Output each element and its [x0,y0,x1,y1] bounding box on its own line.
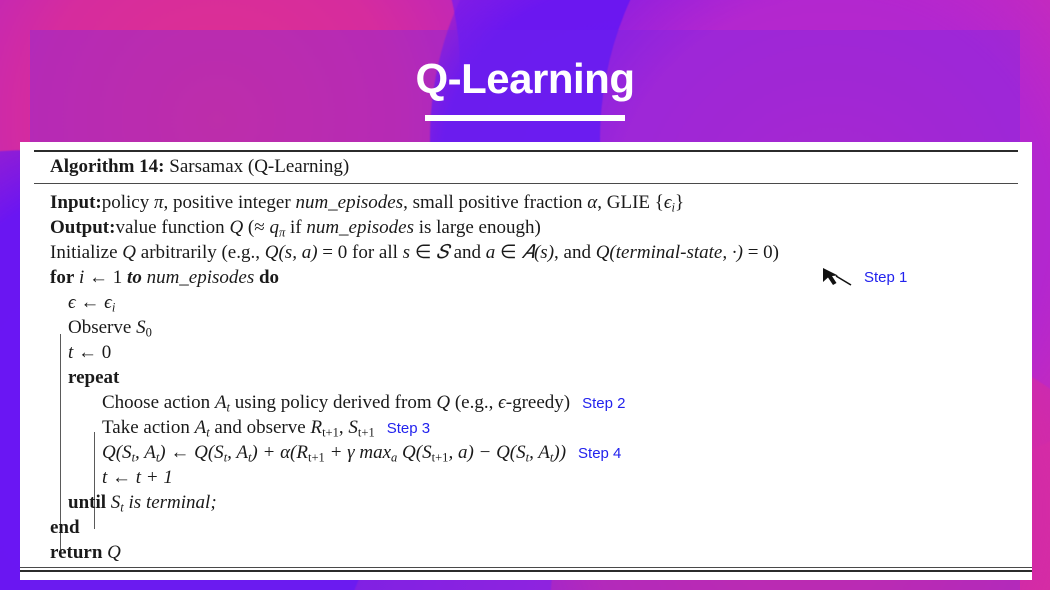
init-text-5: and [449,242,486,263]
annotation-step-4: Step 4 [566,445,621,462]
t-init-rest: ← 0 [73,342,111,363]
observe-text: Observe [68,317,136,338]
observe-symbol-S: S [136,317,146,338]
algorithm-content: Algorithm 14: Sarsamax (Q-Learning) Inpu… [20,142,1032,565]
output-label: Output: [50,217,115,238]
return-symbol-Q: Q [107,542,121,563]
choose-symbol-A: A [215,392,227,413]
take-R-subscript: t+1 [322,426,339,440]
input-text-5: } [675,192,684,213]
line-choose-action: Choose action At using policy derived fr… [50,390,1018,415]
for-assign-arrow: ← 1 [84,267,127,288]
choose-text-1: Choose action [102,392,215,413]
output-text-2: (≈ [243,217,269,238]
algorithm-card: Algorithm 14: Sarsamax (Q-Learning) Inpu… [20,142,1032,580]
line-output: Output:value function Q (≈ qπ if num_epi… [50,215,1018,240]
line-t-init: t ← 0 [50,340,1018,365]
line-return: return Q [50,540,1018,565]
init-symbol-Q: Q [122,242,136,263]
line-repeat: repeat [50,365,1018,390]
choose-text-3: (e.g., [450,392,498,413]
choose-symbol-epsilon: ϵ [498,392,506,413]
take-symbol-S: S [348,417,358,438]
output-text-3: if [285,217,306,238]
keyword-end: end [50,517,80,538]
output-text-1: value function [115,217,229,238]
cursor-arrow-icon [820,266,854,288]
input-text-1: policy [102,192,154,213]
init-text-8: = 0) [743,242,779,263]
line-observe: Observe S0 [50,315,1018,340]
init-Q-s-a: Q(s, a) [265,242,318,263]
choose-text-4: -greedy) [506,392,570,413]
epsilon-lhs: ϵ [68,292,76,313]
observe-S-subscript: 0 [146,326,152,340]
keyword-return: return [50,542,102,563]
page-title: Q-Learning [415,58,634,100]
q-update-expression: Q(St, At) ← Q(St, At) + α(Rt+1 + γ maxa … [102,442,566,463]
init-action-space-A: 𝐴(s) [521,242,554,263]
var-num-episodes: num_episodes [295,192,403,213]
annotation-step-1-group: Step 1 [820,266,907,288]
until-symbol-S: S [111,492,121,513]
slide-canvas: Q-Learning Algorithm 14: Sarsamax (Q-Lea… [0,0,1050,590]
init-state-space-S: 𝑆 [436,242,449,263]
epsilon-rhs-subscript: i [112,301,115,315]
keyword-repeat: repeat [68,367,119,388]
until-text: is terminal; [124,492,217,513]
line-epsilon-assign: ϵ ← ϵi [50,290,1018,315]
choose-symbol-Q: Q [436,392,450,413]
symbol-alpha: α [587,192,597,213]
for-loop-bound: num_episodes [147,267,255,288]
take-symbol-A: A [195,417,207,438]
input-label: Input: [50,192,102,213]
choose-text-2: using policy derived from [230,392,436,413]
init-text-2: arbitrarily (e.g., [136,242,265,263]
epsilon-arrow: ← [76,292,105,313]
keyword-for: for [50,267,74,288]
line-until: until St is terminal; [50,490,1018,515]
take-symbol-R: R [310,417,322,438]
keyword-until: until [68,492,106,513]
keyword-do: do [259,267,279,288]
symbol-q: q [269,217,279,238]
slide-title-block: Q-Learning [0,58,1050,121]
take-text-1: Take action [102,417,195,438]
line-input: Input:policy π, positive integer num_epi… [50,190,1018,215]
take-S-subscript: t+1 [358,426,375,440]
line-initialize: Initialize Q arbitrarily (e.g., Q(s, a) … [50,240,1018,265]
init-text-3: = 0 for all [318,242,403,263]
line-t-increment: t ← t + 1 [50,465,1018,490]
title-underline-rule [425,115,625,121]
epsilon-rhs: ϵ [104,292,112,313]
output-text-4: is large enough) [414,217,541,238]
algorithm-number-label: Algorithm 14: [50,156,165,177]
input-text-4: , GLIE { [597,192,664,213]
algorithm-bottom-rule-thin [20,567,1032,568]
line-end: end [50,515,1018,540]
symbol-epsilon: ϵ [664,192,672,213]
input-text-2: , positive integer [164,192,296,213]
init-text-4: ∈ [410,242,436,263]
init-symbol-s: s [403,242,410,263]
take-text-2: and observe [210,417,311,438]
init-text-7: , and [554,242,596,263]
algorithm-body: Input:policy π, positive integer num_epi… [34,184,1018,565]
algorithm-header: Algorithm 14: Sarsamax (Q-Learning) [34,152,1018,183]
keyword-to: to [127,267,142,288]
init-text-6: ∈ [495,242,521,263]
annotation-step-1: Step 1 [864,269,907,286]
input-text-3: , small positive fraction [403,192,587,213]
init-text-1: Initialize [50,242,122,263]
line-take-action: Take action At and observe Rt+1, St+1Ste… [50,415,1018,440]
take-comma: , [339,417,349,438]
algorithm-name-label: Sarsamax (Q-Learning) [169,156,349,177]
annotation-step-2: Step 2 [570,395,625,412]
symbol-pi: π [154,192,164,213]
algorithm-bottom-rule-thick [20,570,1032,572]
t-inc-rest: ← t + 1 [107,467,173,488]
symbol-Q: Q [229,217,243,238]
init-Q-terminal-state: Q(terminal-state, ·) [596,242,743,263]
init-symbol-a: a [486,242,496,263]
line-q-update: Q(St, At) ← Q(St, At) + α(Rt+1 + γ maxa … [50,440,1018,465]
var-num-episodes-2: num_episodes [306,217,414,238]
annotation-step-3: Step 3 [375,420,430,437]
